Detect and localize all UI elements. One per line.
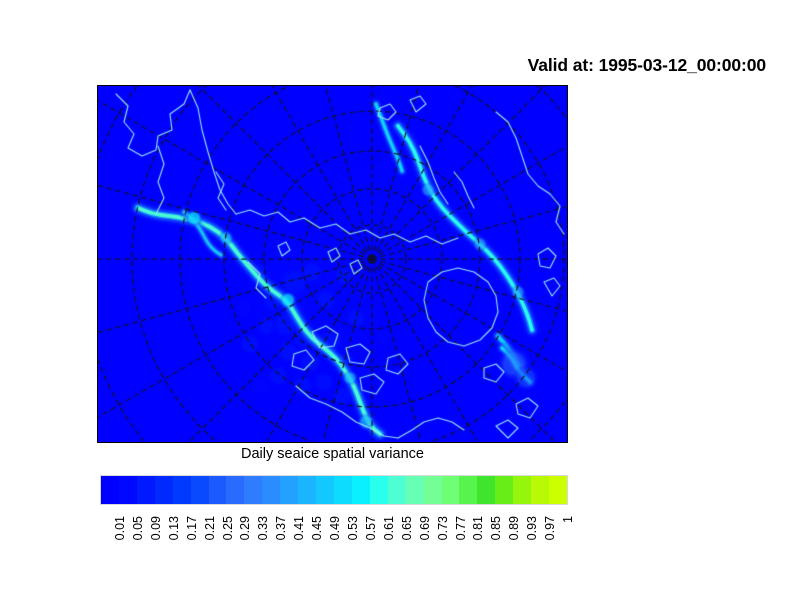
colorbar[interactable]: [100, 475, 568, 505]
colorbar-swatch: [119, 476, 137, 504]
colorbar-tick-label: 0.13: [167, 516, 181, 540]
page-title: Valid at: 1995-03-12_00:00:00: [528, 55, 766, 76]
colorbar-swatch: [424, 476, 442, 504]
colorbar-swatch: [370, 476, 388, 504]
colorbar-swatch: [334, 476, 352, 504]
colorbar-swatch: [155, 476, 173, 504]
colorbar-tick-label: 0.97: [543, 516, 557, 540]
colorbar-tick-label: 0.65: [400, 516, 414, 540]
colorbar-tick-label: 0.53: [346, 516, 360, 540]
colorbar-tick-label: 0.41: [292, 516, 306, 540]
colorbar-tick-label: 0.69: [418, 516, 432, 540]
colorbar-swatch: [388, 476, 406, 504]
colorbar-ticks: [100, 505, 568, 513]
colorbar-swatch: [406, 476, 424, 504]
colorbar-tick-label: 0.93: [525, 516, 539, 540]
colorbar-swatch: [352, 476, 370, 504]
colorbar-tick-label: 0.81: [471, 516, 485, 540]
colorbar-tick-label: 0.85: [489, 516, 503, 540]
colorbar-swatch: [280, 476, 298, 504]
colorbar-swatch: [262, 476, 280, 504]
colorbar-tick-label: 0.61: [382, 516, 396, 540]
colorbar-swatch: [459, 476, 477, 504]
colorbar-tick-label: 0.05: [131, 516, 145, 540]
colorbar-tick-labels: 0.010.050.090.130.170.210.250.290.330.37…: [100, 513, 568, 573]
colorbar-swatch: [191, 476, 209, 504]
colorbar-swatch: [442, 476, 460, 504]
colorbar-tick-label: 0.01: [113, 516, 127, 540]
colorbar-caption: Daily seaice spatial variance: [97, 446, 568, 462]
colorbar-tick-label: 0.17: [185, 516, 199, 540]
colorbar-swatch: [316, 476, 334, 504]
colorbar-tick-label: 0.45: [310, 516, 324, 540]
colorbar-tick-label: 0.57: [364, 516, 378, 540]
colorbar-tick-label: 0.89: [507, 516, 521, 540]
colorbar-tick-label: 0.33: [256, 516, 270, 540]
colorbar-tick-label: 0.37: [274, 516, 288, 540]
colorbar-swatch: [531, 476, 549, 504]
colorbar-tick-label: 0.49: [328, 516, 342, 540]
colorbar-swatch: [226, 476, 244, 504]
colorbar-swatch: [137, 476, 155, 504]
seaice-variance-raster: [98, 86, 566, 441]
colorbar-swatch: [298, 476, 316, 504]
colorbar-tick-label: 0.21: [203, 516, 217, 540]
colorbar-tick-label: 0.77: [454, 516, 468, 540]
colorbar-tick-label: 0.25: [221, 516, 235, 540]
colorbar-swatch: [209, 476, 227, 504]
colorbar-swatch: [244, 476, 262, 504]
colorbar-swatch: [495, 476, 513, 504]
map-plot-area[interactable]: 135°E150°E165°E180°15°E0°15°W30°W45°W60°…: [97, 85, 568, 443]
colorbar-swatch: [101, 476, 119, 504]
colorbar-swatch: [477, 476, 495, 504]
colorbar-swatch: [549, 476, 567, 504]
colorbar-group: 0.010.050.090.130.170.210.250.290.330.37…: [100, 475, 568, 573]
colorbar-swatch: [173, 476, 191, 504]
colorbar-tick-label: 1: [561, 516, 575, 523]
colorbar-swatch: [513, 476, 531, 504]
colorbar-tick-label: 0.09: [149, 516, 163, 540]
colorbar-tick-label: 0.29: [238, 516, 252, 540]
colorbar-tick-label: 0.73: [436, 516, 450, 540]
figure-root: Valid at: 1995-03-12_00:00:00 135°E150°E…: [0, 0, 792, 612]
